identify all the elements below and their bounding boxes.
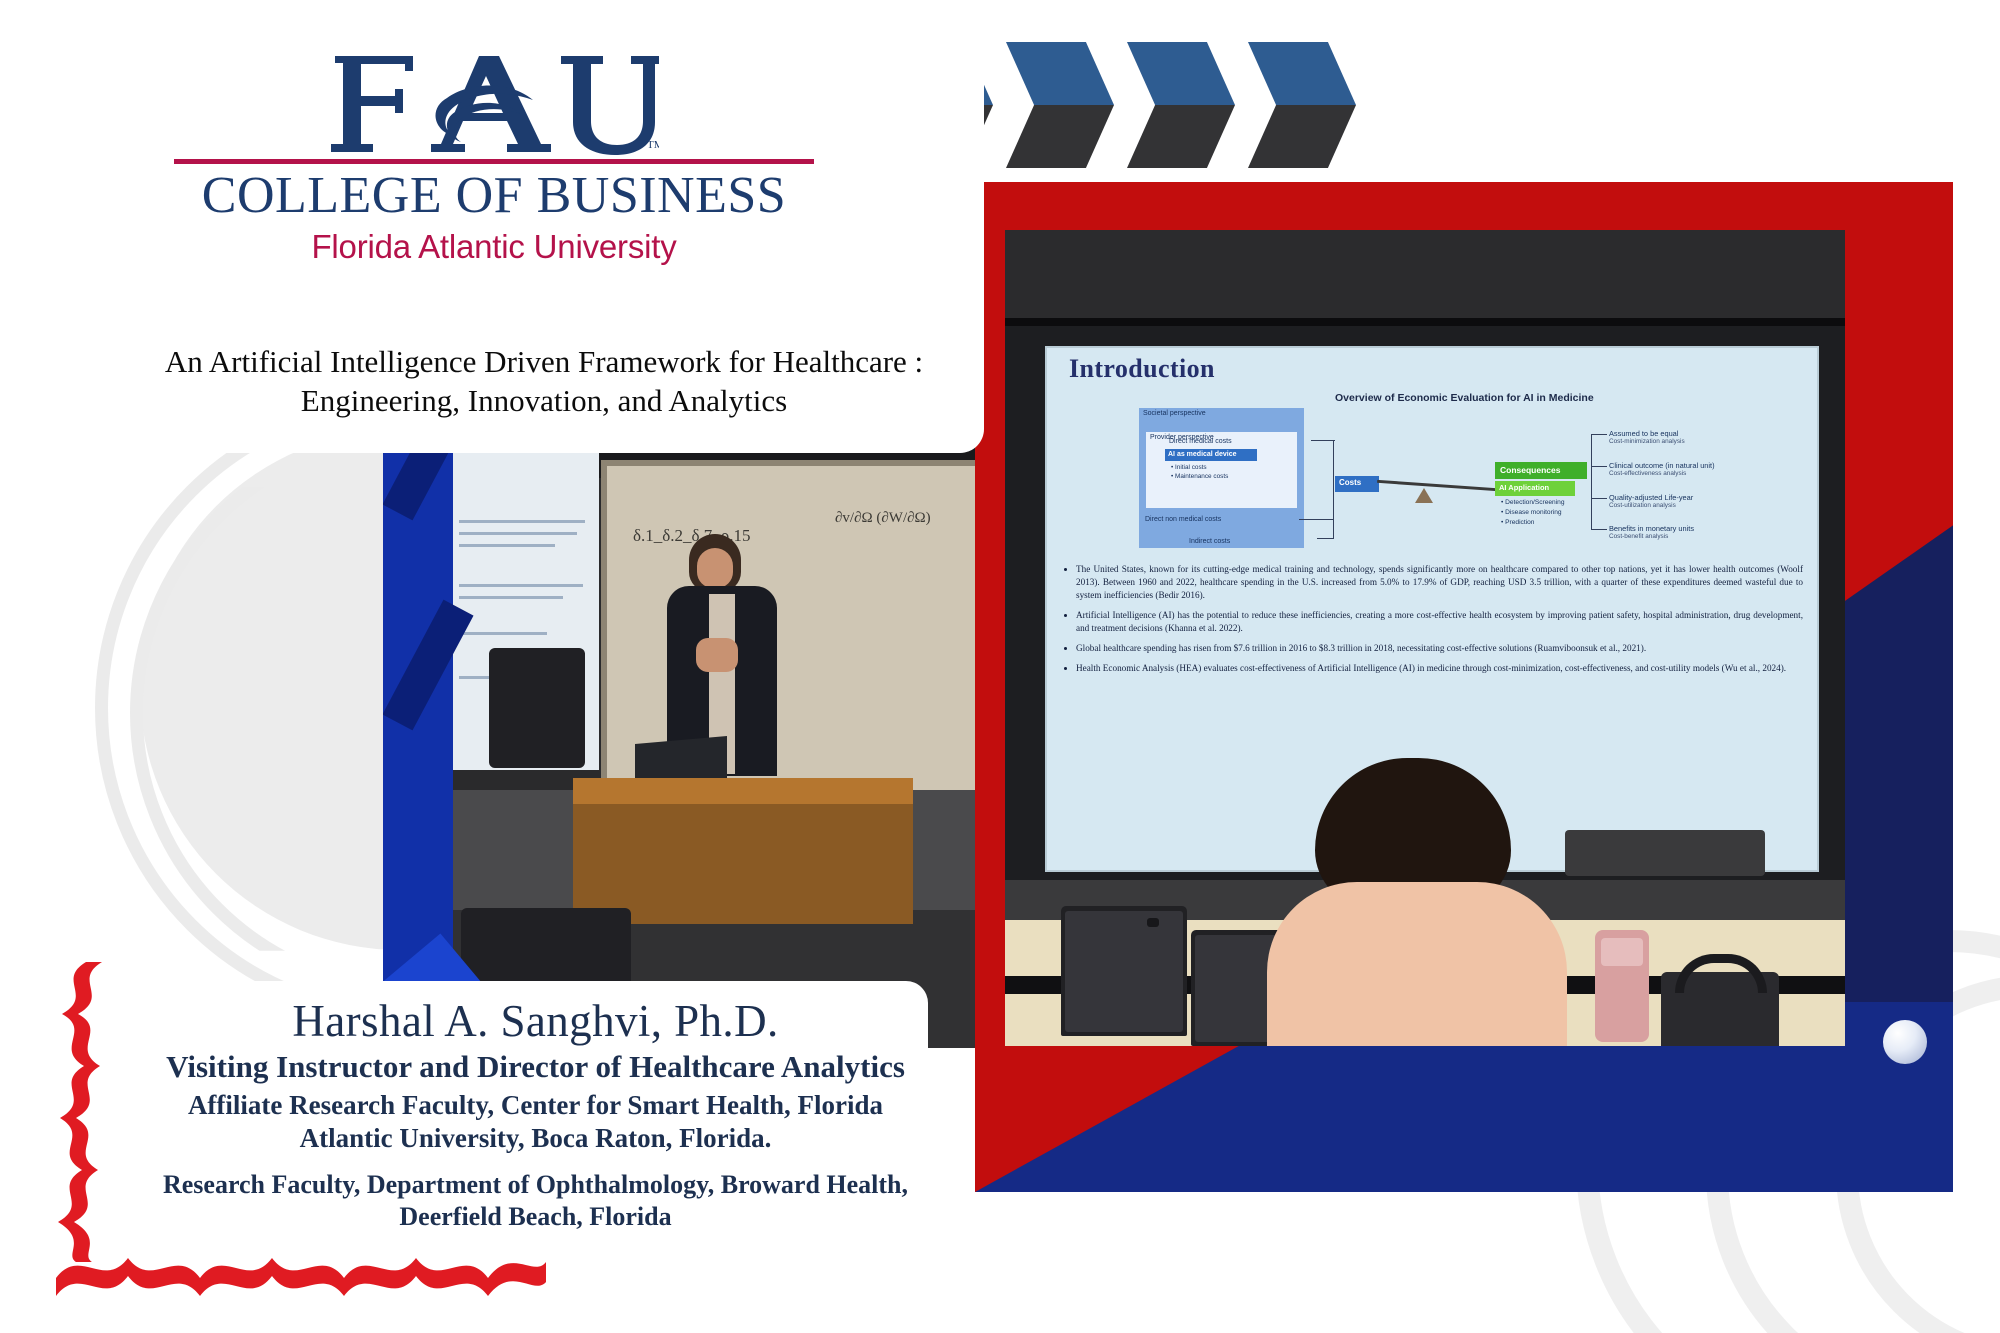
- whiteboard-formula: ∂v/∂Ω (∂W/∂Ω): [835, 510, 931, 527]
- balance-fulcrum: [1415, 488, 1433, 503]
- lecturer-face: [697, 548, 733, 588]
- backpack: [1661, 972, 1779, 1046]
- outcome-3: Benefits in monetary units Cost-benefit …: [1609, 524, 1694, 540]
- consequences-box: Consequences: [1495, 462, 1587, 479]
- costs-box: Costs: [1335, 476, 1379, 492]
- ai-as-medical-device-label: AI as medical device: [1168, 451, 1236, 458]
- connector-out-1: [1591, 466, 1607, 467]
- slide-bullet-3: Health Economic Analysis (HEA) evaluates…: [1076, 662, 1803, 675]
- fau-logo: TM College of Business Florida Atlantic …: [174, 50, 814, 266]
- page-title: An Artificial Intelligence Driven Framew…: [144, 342, 944, 421]
- connector-out-3: [1591, 529, 1607, 530]
- consequences-label: Consequences: [1500, 465, 1560, 475]
- ai-app-item-0: • Detection/Screening: [1501, 499, 1565, 506]
- balance-beam: [1377, 480, 1497, 491]
- fau-wordmark-icon: TM: [329, 50, 659, 155]
- student-torso: [1267, 882, 1567, 1046]
- header-card: TM College of Business Florida Atlantic …: [104, 0, 984, 453]
- speaker-name: Harshal A. Sanghvi, Ph.D.: [143, 995, 928, 1047]
- podium-body: [573, 804, 913, 924]
- ai-app-item-1: • Disease monitoring: [1501, 509, 1562, 516]
- slide-canvas: δ.1_δ.2_δ.7_ρ.15 ∂v/∂Ω (∂W/∂Ω): [0, 0, 2000, 1333]
- red-ribbon-horizontal: [56, 1238, 546, 1300]
- connector-dnmc: [1299, 519, 1334, 520]
- water-bottle: [1595, 930, 1649, 1042]
- sphere-accent: [1883, 1020, 1927, 1064]
- photo-lecturer: δ.1_δ.2_δ.7_ρ.15 ∂v/∂Ω (∂W/∂Ω): [383, 348, 1023, 1048]
- ai-application-label: AI Application: [1499, 483, 1549, 492]
- economic-evaluation-diagram: Overview of Economic Evaluation for AI i…: [1139, 388, 1789, 553]
- direct-non-medical-costs-label: Direct non medical costs: [1145, 516, 1221, 523]
- lecture-room-left: δ.1_δ.2_δ.7_ρ.15 ∂v/∂Ω (∂W/∂Ω): [453, 348, 1023, 1048]
- outcome-0-label: Assumed to be equal: [1609, 429, 1678, 438]
- logo-divider-rule: [174, 159, 814, 164]
- ai-application-box: AI Application: [1495, 481, 1575, 496]
- ai-as-medical-device-box: AI as medical device: [1165, 449, 1257, 461]
- connector-out-0: [1591, 434, 1607, 435]
- slide-heading: Introduction: [1069, 354, 1215, 384]
- podium-top: [573, 778, 913, 804]
- classroom-chair-1: [1061, 906, 1187, 1036]
- red-ribbon-vertical: [46, 962, 104, 1262]
- desk-mic-1: [1147, 918, 1159, 927]
- trademark-text: TM: [647, 139, 659, 151]
- ai-app-item-2: • Prediction: [1501, 519, 1534, 526]
- speaker-role: Visiting Instructor and Director of Heal…: [143, 1049, 928, 1085]
- connector-indc: [1317, 538, 1334, 539]
- diagram-title: Overview of Economic Evaluation for AI i…: [1335, 392, 1594, 404]
- speaker-affiliation-2: Research Faculty, Department of Ophthalm…: [143, 1169, 928, 1232]
- indirect-costs-label: Indirect costs: [1189, 538, 1230, 545]
- initial-costs-label: • Initial costs: [1171, 464, 1207, 471]
- outcome-1-label: Clinical outcome (in natural unit): [1609, 461, 1715, 470]
- chevron-arrow-3: [1127, 42, 1235, 168]
- costs-label: Costs: [1339, 478, 1361, 487]
- societal-perspective-label: Societal perspective: [1143, 410, 1206, 417]
- connector-dmc: [1311, 440, 1335, 441]
- chevron-arrow-2: [1006, 42, 1114, 168]
- outcome-1: Clinical outcome (in natural unit) Cost-…: [1609, 461, 1715, 477]
- student-monitor: [1565, 830, 1765, 876]
- classroom-photo: Introduction Overview of Economic Evalua…: [1005, 230, 1845, 1046]
- chevron-arrow-4: [1248, 42, 1356, 168]
- college-name: College of Business: [174, 170, 814, 222]
- slide-bullet-1: Artificial Intelligence (AI) has the pot…: [1076, 609, 1803, 635]
- speaker-affiliation-1: Affiliate Research Faculty, Center for S…: [143, 1089, 928, 1155]
- slide-bullets: The United States, known for its cutting…: [1063, 563, 1803, 682]
- outcome-3-label: Benefits in monetary units: [1609, 524, 1694, 533]
- photo-classroom-framed: Introduction Overview of Economic Evalua…: [975, 182, 1953, 1192]
- slide-bullet-2: Global healthcare spending has risen fro…: [1076, 642, 1803, 655]
- outcome-2: Quality-adjusted Life-year Cost-utilizat…: [1609, 493, 1693, 509]
- outcome-3-analysis: Cost-benefit analysis: [1609, 533, 1694, 540]
- outcome-0-analysis: Cost-minimization analysis: [1609, 438, 1685, 445]
- connector-vert: [1333, 440, 1334, 538]
- connector-cons-spine: [1591, 434, 1592, 529]
- outcome-1-analysis: Cost-effectiveness analysis: [1609, 470, 1715, 477]
- maintenance-costs-label: • Maintenance costs: [1171, 473, 1228, 480]
- speaker-block: Harshal A. Sanghvi, Ph.D. Visiting Instr…: [143, 995, 928, 1232]
- connector-out-2: [1591, 498, 1607, 499]
- title-line-1: An Artificial Intelligence Driven Framew…: [144, 342, 944, 381]
- university-name: Florida Atlantic University: [174, 228, 814, 266]
- direct-medical-costs-label: Direct medical costs: [1169, 438, 1232, 445]
- title-line-2: Engineering, Innovation, and Analytics: [144, 381, 944, 420]
- outcome-2-analysis: Cost-utilization analysis: [1609, 502, 1693, 509]
- blue-edge-band-left: [383, 348, 453, 1048]
- ceiling-vent: [1005, 230, 1845, 326]
- podium-chair: [489, 648, 585, 768]
- slide-bullet-0: The United States, known for its cutting…: [1076, 563, 1803, 602]
- outcome-2-label: Quality-adjusted Life-year: [1609, 493, 1693, 502]
- outcome-0: Assumed to be equal Cost-minimization an…: [1609, 429, 1685, 445]
- societal-perspective-box: Societal perspective Provider perspectiv…: [1139, 408, 1304, 548]
- lecturer-hands: [696, 638, 738, 672]
